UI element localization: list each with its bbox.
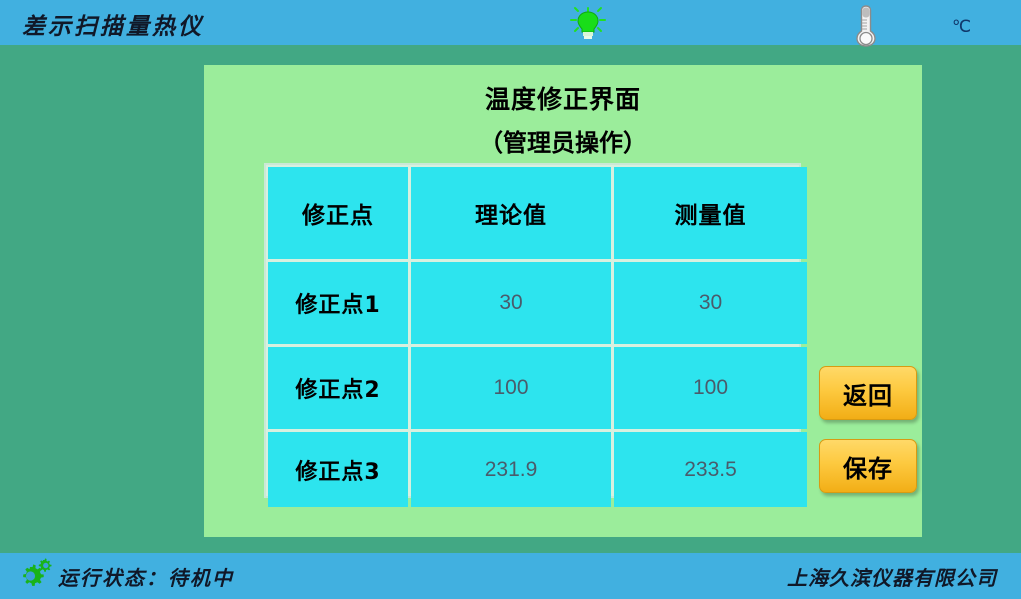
thermometer-icon	[851, 3, 881, 47]
application-window: 差示扫描量热仪	[0, 0, 1021, 599]
light-bulb-icon	[570, 6, 606, 40]
theoretical-value-input-2[interactable]: 100	[411, 347, 611, 429]
gear-icon	[16, 558, 54, 592]
measured-value-input-3[interactable]: 233.5	[614, 432, 807, 507]
theoretical-value-input-1[interactable]: 30	[411, 262, 611, 344]
theoretical-value-input-3[interactable]: 231.9	[411, 432, 611, 507]
table-header-correction-point: 修正点	[268, 167, 408, 259]
correction-table: 修正点 理论值 测量值 修正点1 30 30 修正点2 100 100 修正点3…	[264, 163, 801, 498]
table-header-theoretical-value: 理论值	[411, 167, 611, 259]
content-panel: 温度修正界面 （管理员操作） 修正点 理论值 测量值 修正点1 30 30 修正…	[204, 65, 922, 537]
measured-value-input-1[interactable]: 30	[614, 262, 807, 344]
measured-value-input-2[interactable]: 100	[614, 347, 807, 429]
back-button[interactable]: 返回	[819, 366, 917, 420]
page-subtitle: （管理员操作）	[204, 123, 922, 158]
top-bar: 差示扫描量热仪	[0, 0, 1021, 45]
app-title: 差示扫描量热仪	[22, 7, 204, 41]
table-row: 修正点3	[268, 432, 408, 507]
temperature-unit-label: ℃	[952, 17, 971, 37]
save-button[interactable]: 保存	[819, 439, 917, 493]
table-row: 修正点2	[268, 347, 408, 429]
page-title: 温度修正界面	[204, 80, 922, 116]
company-name: 上海久滨仪器有限公司	[787, 562, 997, 591]
table-row: 修正点1	[268, 262, 408, 344]
running-status-text: 运行状态：待机中	[58, 562, 234, 591]
table-header-measured-value: 测量值	[614, 167, 807, 259]
